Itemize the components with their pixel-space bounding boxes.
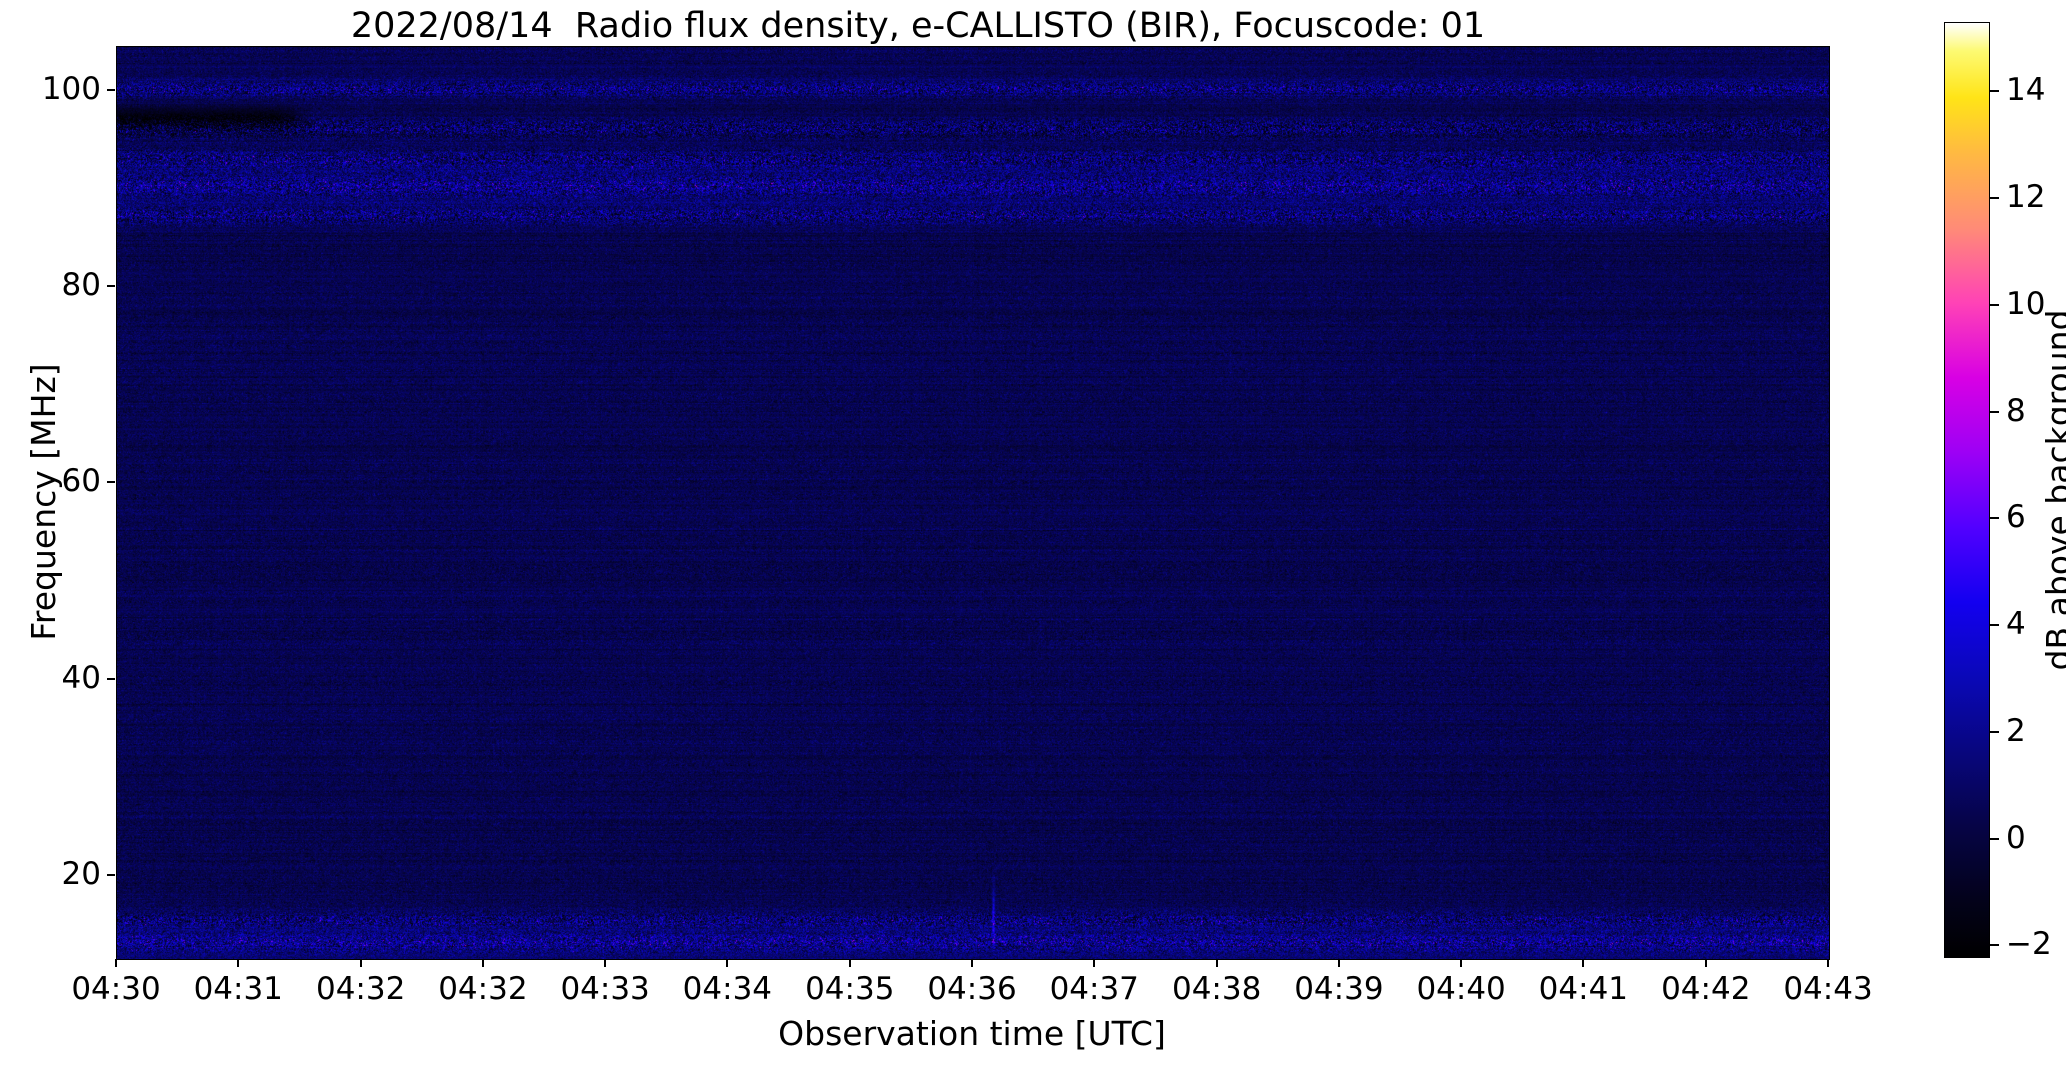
colorbar-tick-mark	[1990, 411, 1999, 413]
x-axis-tick-mark	[360, 959, 362, 967]
x-axis-tick-mark	[1582, 959, 1584, 967]
x-axis-tick-label: 04:40	[1391, 974, 1531, 1005]
colorbar-tick-label: 2	[2006, 716, 2026, 747]
x-axis-label: Observation time [UTC]	[116, 1014, 1828, 1054]
colorbar-tick-label: 0	[2006, 823, 2026, 854]
colorbar[interactable]	[1944, 22, 1990, 958]
colorbar-tick-label: 8	[2006, 396, 2026, 427]
x-axis-tick-mark	[604, 959, 606, 967]
spectrogram-canvas	[117, 47, 1829, 959]
y-axis-tick-mark	[107, 874, 115, 876]
y-axis-label: Frequency [MHz]	[24, 46, 64, 958]
x-axis-tick-label: 04:32	[291, 974, 431, 1005]
colorbar-tick-mark	[1990, 197, 1999, 199]
spectrogram-image	[117, 47, 1829, 959]
x-axis-tick-mark	[482, 959, 484, 967]
x-axis-tick-mark	[971, 959, 973, 967]
colorbar-tick-mark	[1990, 90, 1999, 92]
y-axis-tick-mark	[107, 285, 115, 287]
x-axis-tick-label: 04:37	[1024, 974, 1164, 1005]
y-axis-tick-label: 40	[1, 663, 101, 694]
y-axis-tick-mark	[107, 89, 115, 91]
y-axis-tick-mark	[107, 678, 115, 680]
x-axis-tick-label: 04:43	[1758, 974, 1898, 1005]
x-axis-tick-label: 04:36	[902, 974, 1042, 1005]
figure-canvas: 2022/08/14 Radio flux density, e-CALLIST…	[0, 0, 2066, 1067]
y-axis-tick-label: 20	[1, 859, 101, 890]
colorbar-tick-label: 4	[2006, 609, 2026, 640]
x-axis-tick-mark	[726, 959, 728, 967]
page-title: 2022/08/14 Radio flux density, e-CALLIST…	[0, 6, 1836, 46]
spectrogram-axes[interactable]	[116, 46, 1830, 960]
colorbar-tick-label: 6	[2006, 502, 2026, 533]
x-axis-tick-label: 04:39	[1269, 974, 1409, 1005]
x-axis-tick-mark	[1216, 959, 1218, 967]
x-axis-tick-label: 04:35	[780, 974, 920, 1005]
y-axis-tick-label: 100	[1, 74, 101, 105]
x-axis-tick-label: 04:32	[413, 974, 553, 1005]
colorbar-gradient	[1944, 22, 1990, 958]
x-axis-tick-mark	[237, 959, 239, 967]
colorbar-tick-mark	[1990, 838, 1999, 840]
colorbar-tick-mark	[1990, 944, 1999, 946]
y-axis-tick-label: 80	[1, 270, 101, 301]
x-axis-tick-mark	[1460, 959, 1462, 967]
colorbar-axis-label: dB above background	[2038, 22, 2066, 958]
x-axis-tick-mark	[1705, 959, 1707, 967]
x-axis-tick-label: 04:31	[168, 974, 308, 1005]
x-axis-tick-mark	[1093, 959, 1095, 967]
colorbar-tick-mark	[1990, 517, 1999, 519]
y-axis-tick-label: 60	[1, 466, 101, 497]
x-axis-tick-label: 04:38	[1147, 974, 1287, 1005]
x-axis-tick-mark	[1338, 959, 1340, 967]
x-axis-tick-label: 04:41	[1513, 974, 1653, 1005]
y-axis-tick-mark	[107, 481, 115, 483]
x-axis-tick-label: 04:34	[657, 974, 797, 1005]
x-axis-tick-mark	[1827, 959, 1829, 967]
colorbar-tick-mark	[1990, 304, 1999, 306]
x-axis-tick-mark	[849, 959, 851, 967]
x-axis-tick-label: 04:42	[1636, 974, 1776, 1005]
x-axis-tick-label: 04:30	[46, 974, 186, 1005]
x-axis-tick-label: 04:33	[535, 974, 675, 1005]
x-axis-tick-mark	[115, 959, 117, 967]
colorbar-tick-mark	[1990, 624, 1999, 626]
colorbar-tick-mark	[1990, 731, 1999, 733]
